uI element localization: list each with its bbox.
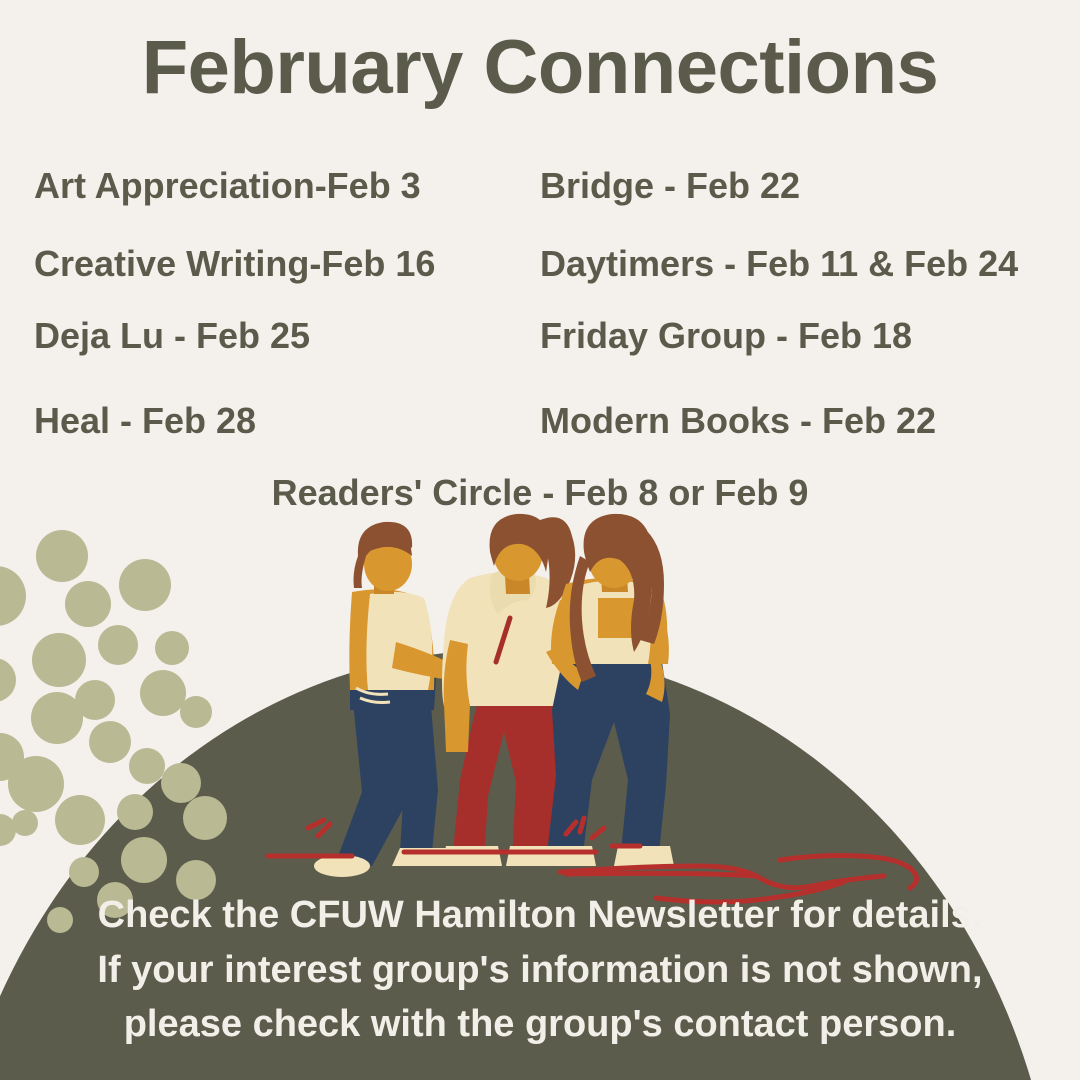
footer-line-1: Check the CFUW Hamilton Newsletter for d… xyxy=(0,888,1080,943)
footer-note: Check the CFUW Hamilton Newsletter for d… xyxy=(0,888,1080,1052)
group-item-deja-lu: Deja Lu - Feb 25 xyxy=(34,318,310,354)
group-item-creative-writing: Creative Writing-Feb 16 xyxy=(34,246,435,282)
group-item-bridge: Bridge - Feb 22 xyxy=(540,168,800,204)
footer-line-2: If your interest group's information is … xyxy=(0,943,1080,998)
group-item-modern-books: Modern Books - Feb 22 xyxy=(540,403,936,439)
group-item-heal: Heal - Feb 28 xyxy=(34,403,256,439)
group-item-readers-circle: Readers' Circle - Feb 8 or Feb 9 xyxy=(0,475,1080,511)
footer-line-3: please check with the group's contact pe… xyxy=(0,997,1080,1052)
group-item-art-appreciation: Art Appreciation-Feb 3 xyxy=(34,168,421,204)
page-title: February Connections xyxy=(0,26,1080,110)
poster-canvas: February Connections Art Appreciation-Fe… xyxy=(0,0,1080,1080)
group-item-friday-group: Friday Group - Feb 18 xyxy=(540,318,912,354)
group-item-daytimers: Daytimers - Feb 11 & Feb 24 xyxy=(540,246,1018,282)
